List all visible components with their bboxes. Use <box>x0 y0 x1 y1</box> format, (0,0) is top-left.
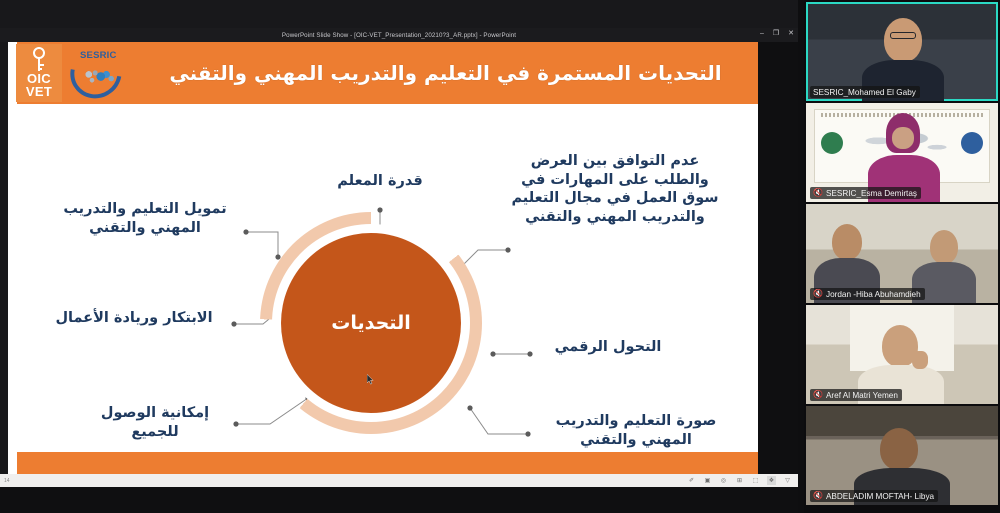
powerpoint-slideshow-window: PowerPoint Slide Show - [OIC-VET_Present… <box>0 0 798 513</box>
participant-name: Aref Al Matri Yemen <box>826 391 898 400</box>
video-participants-strip: SESRIC_Mohamed El Gaby 🔇 SESRIC_Esma Dem… <box>804 0 1000 513</box>
participant-nametag: 🔇 SESRIC_Esma Demirtaş <box>810 187 921 199</box>
participant-name: ABDELADIM MOFTAH- Libya <box>826 492 934 501</box>
more-options-icon[interactable]: ▽ <box>783 476 792 485</box>
donut-center: التحديات <box>281 233 461 413</box>
zoom-slide-icon[interactable]: ⬚ <box>751 476 760 485</box>
callout-teacher-capacity: قدرة المعلم <box>320 172 440 191</box>
restore-button[interactable]: ❐ <box>773 30 779 37</box>
slide-canvas[interactable]: OIC VET SESRIC التحديات المستمرة في التع… <box>8 42 758 474</box>
oic-logo-line1: OIC <box>27 72 51 85</box>
participant-nametag: 🔇 Jordan -Hiba Abuhamdieh <box>810 288 925 300</box>
callout-skills-mismatch: عدم التوافق بين العرض والطلب على المهارا… <box>506 152 724 226</box>
participant-nametag: 🔇 Aref Al Matri Yemen <box>810 389 902 401</box>
callout-digital-transformation: التحول الرقمي <box>538 338 678 357</box>
donut-center-label: التحديات <box>331 312 410 334</box>
mute-icon: 🔇 <box>813 189 823 197</box>
slide-right-letterbox <box>758 42 798 474</box>
oic-logo-line2: VET <box>26 85 52 98</box>
participant-tile[interactable]: 🔇 ABDELADIM MOFTAH- Libya <box>806 406 998 505</box>
window-bottom-letterbox <box>0 487 798 513</box>
callout-accessibility: إمكانية الوصول للجميع <box>80 404 230 441</box>
all-slides-icon[interactable]: ⊞ <box>735 476 744 485</box>
sesric-logo: SESRIC <box>68 45 130 101</box>
participant-name: SESRIC_Mohamed El Gaby <box>813 88 916 97</box>
minimize-button[interactable]: – <box>760 30 764 37</box>
globe-icon <box>80 63 120 89</box>
participant-tile[interactable]: SESRIC_Mohamed El Gaby <box>806 2 998 101</box>
participant-nametag: 🔇 ABDELADIM MOFTAH- Libya <box>810 490 938 502</box>
slide-title: التحديات المستمرة في التعليم والتدريب ال… <box>138 42 753 104</box>
key-icon <box>31 47 47 72</box>
slide-number-indicator: 14 <box>4 478 10 484</box>
window-title-text: PowerPoint Slide Show - [OIC-VET_Present… <box>282 32 516 39</box>
slide-logos: OIC VET SESRIC <box>16 42 130 104</box>
laser-pointer-icon[interactable]: ◎ <box>719 476 728 485</box>
presenter-toolbar-icons: ✐ ▣ ◎ ⊞ ⬚ ❖ ▽ <box>687 476 792 485</box>
mute-icon: 🔇 <box>813 492 823 500</box>
left-emblem-icon <box>821 132 843 154</box>
screen-root: PowerPoint Slide Show - [OIC-VET_Present… <box>0 0 1000 513</box>
slide-left-margin <box>8 42 17 474</box>
oic-vet-logo: OIC VET <box>16 44 62 102</box>
pointer-options-icon[interactable]: ▣ <box>703 476 712 485</box>
right-emblem-icon <box>961 132 983 154</box>
callout-financing: تمويل التعليم والتدريب المهني والتقني <box>50 200 240 237</box>
participant-tile[interactable]: 🔇 SESRIC_Esma Demirtaş <box>806 103 998 202</box>
pen-tool-icon[interactable]: ✐ <box>687 476 696 485</box>
window-titlebar: PowerPoint Slide Show - [OIC-VET_Present… <box>0 28 798 42</box>
mute-icon: 🔇 <box>813 391 823 399</box>
mouse-cursor-icon <box>367 374 374 385</box>
challenges-donut-diagram: التحديات <box>260 212 482 434</box>
participant-name: SESRIC_Esma Demirtaş <box>826 189 917 198</box>
mute-icon: 🔇 <box>813 290 823 298</box>
participant-tile[interactable]: 🔇 Aref Al Matri Yemen <box>806 305 998 404</box>
slide-footer-band <box>8 452 758 474</box>
callout-innovation: الابتكار وريادة الأعمال <box>34 309 234 328</box>
participant-tile[interactable]: 🔇 Jordan -Hiba Abuhamdieh <box>806 204 998 303</box>
presenter-toolbar: 14 ✐ ▣ ◎ ⊞ ⬚ ❖ ▽ <box>0 474 798 487</box>
participant-nametag: SESRIC_Mohamed El Gaby <box>810 86 920 98</box>
presenter-view-icon[interactable]: ❖ <box>767 476 776 485</box>
participant-name: Jordan -Hiba Abuhamdieh <box>826 290 921 299</box>
close-button[interactable]: ✕ <box>788 30 794 37</box>
window-controls: – ❐ ✕ <box>760 30 794 37</box>
callout-vet-image: صورة التعليم والتدريب المهني والتقني <box>536 412 736 449</box>
sesric-logo-text: SESRIC <box>80 50 117 61</box>
